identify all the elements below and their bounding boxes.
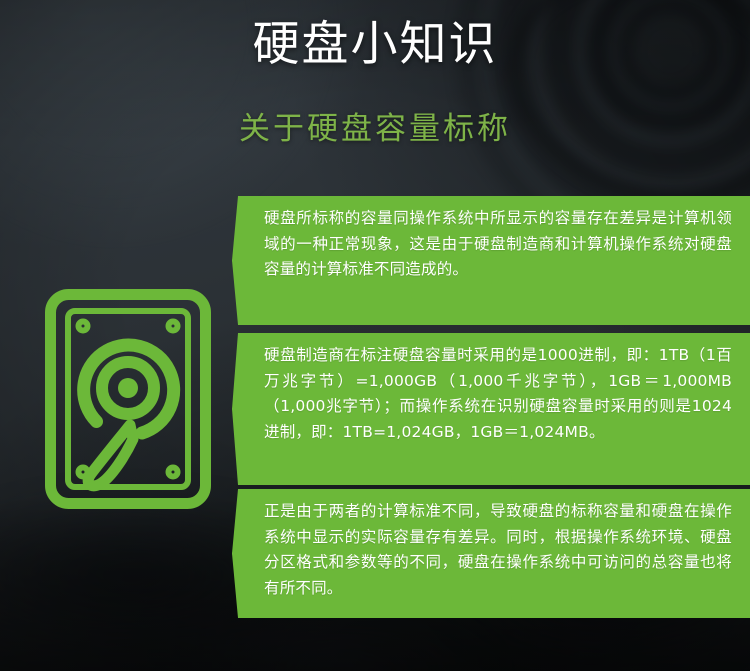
- infographic-canvas: 硬盘小知识 关于硬盘容量标称: [0, 0, 750, 671]
- content-panel-2: 硬盘制造商在标注硬盘容量时采用的是1000进制，即：1TB（1百万兆字节）=1,…: [232, 333, 750, 485]
- content-panel-2-text: 硬盘制造商在标注硬盘容量时采用的是1000进制，即：1TB（1百万兆字节）=1,…: [264, 343, 732, 445]
- page-subtitle: 关于硬盘容量标称: [0, 109, 750, 149]
- content-panel-3-text: 正是由于两者的计算标准不同，导致硬盘的标称容量和硬盘在操作系统中显示的实际容量存…: [264, 499, 732, 601]
- content-panel-1: 硬盘所标称的容量同操作系统中所显示的容量存在差异是计算机领域的一种正常现象，这是…: [232, 196, 750, 325]
- header: 硬盘小知识 关于硬盘容量标称: [0, 0, 750, 150]
- content-panel-3: 正是由于两者的计算标准不同，导致硬盘的标称容量和硬盘在操作系统中显示的实际容量存…: [232, 489, 750, 618]
- content-panel-1-text: 硬盘所标称的容量同操作系统中所显示的容量存在差异是计算机领域的一种正常现象，这是…: [264, 206, 732, 283]
- page-title: 硬盘小知识: [0, 16, 750, 73]
- hard-disk-drive-icon: [44, 288, 212, 510]
